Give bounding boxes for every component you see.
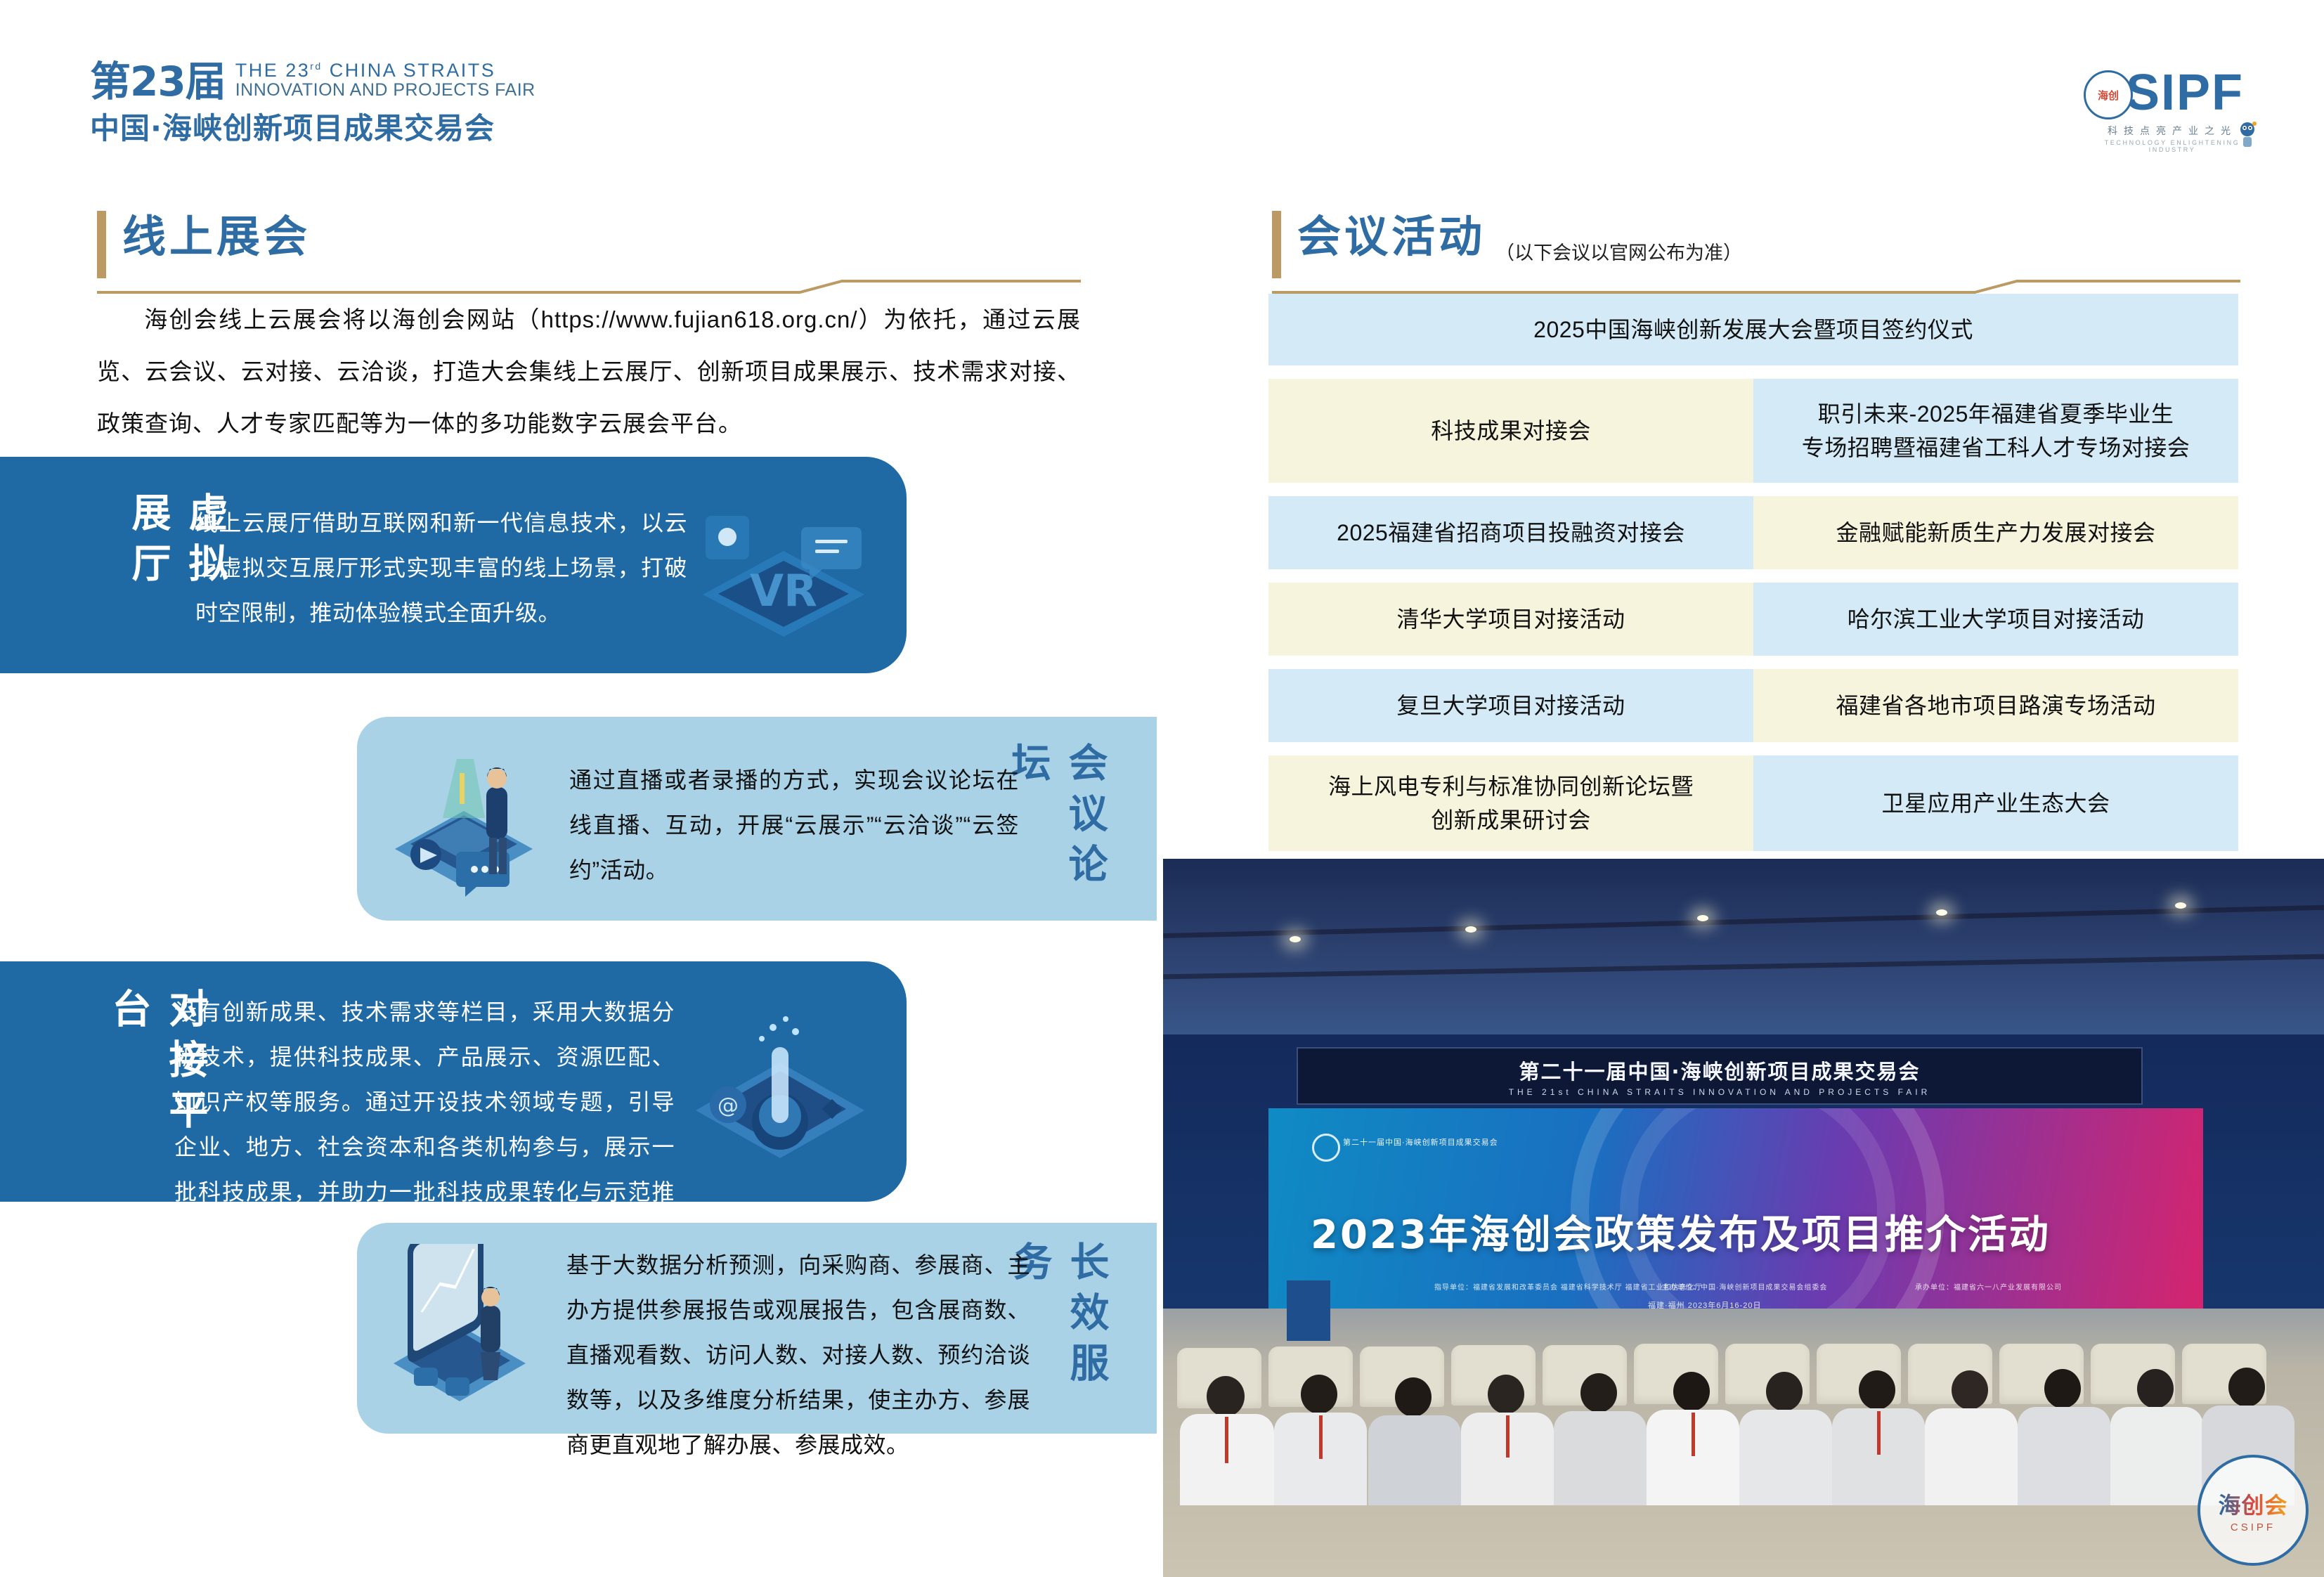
event-photo: 第二十一届中国·海峡创新项目成果交易会 THE 21st CHINA STRAI… (1163, 859, 2324, 1577)
attendee-head (1488, 1375, 1524, 1414)
attendee-head (1766, 1372, 1803, 1411)
attendee-head (1952, 1370, 1988, 1410)
led-screen: 第二十一届中国·海峡创新项目成果交易会 2023年海创会政策发布及项目推介活动 … (1268, 1108, 2203, 1340)
table-row: 清华大学项目对接活动 哈尔滨工业大学项目对接活动 (1268, 583, 2238, 656)
live-broadcast-icon (378, 742, 561, 900)
feature-panel-virtual-hall: 虚拟展厅 线上云展厅借助互联网和新一代信息技术，以云上虚拟交互展厅形式实现丰富的… (0, 457, 907, 673)
csipf-cn-tagline: 科技点亮产业之光 (2088, 124, 2257, 138)
data-report-icon (375, 1244, 565, 1417)
meeting-cell[interactable]: 2025福建省招商项目投融资对接会 (1268, 496, 1753, 569)
mascot-icon (2235, 121, 2259, 149)
fair-title-en-line2: INNOVATION AND PROJECTS FAIR (235, 81, 535, 100)
svg-text:VR: VR (750, 565, 817, 616)
feature-panel-longterm-service: 长效服务 基于大数据分析预测，向采购商、参展商、主办方提供参展报告或观展报告，包… (357, 1223, 1157, 1434)
stage-light-icon (1290, 936, 1301, 942)
feature-panel-conference-forum: 会议论坛 通过直播或者录播的方式，实现会议论坛在线直播、互动，开展“云展示”“云… (357, 717, 1157, 921)
table-row: 2025中国海峡创新发展大会暨项目签约仪式 (1268, 294, 2238, 365)
lanyard (1692, 1413, 1695, 1456)
meeting-cell[interactable]: 卫星应用产业生态大会 (1753, 755, 2238, 851)
screen-sub-mid: 主办单位：中国·海峡创新项目成果交易会组委会 (1662, 1281, 1827, 1292)
section-heading-meetings: 会议活动 （以下会议以官网公布为准） (1272, 211, 2240, 295)
lanyard (1319, 1415, 1323, 1459)
attendee-body (1925, 1408, 2018, 1505)
heading-rule (1272, 278, 2240, 295)
fair-brand-lockup: 第23届 THE 23rd CHINA STRAITS INNOVATION A… (90, 60, 535, 148)
meeting-cell[interactable]: 复旦大学项目对接活动 (1268, 669, 1753, 742)
attendee-head (1859, 1370, 1895, 1410)
section-title-text: 会议活动 (1297, 214, 1486, 259)
meeting-cell[interactable]: 金融赋能新质生产力发展对接会 (1753, 496, 2238, 569)
lanyard (1225, 1417, 1228, 1463)
meeting-cell[interactable]: 福建省各地市项目路演专场活动 (1753, 669, 2238, 742)
meeting-activities-table: 2025中国海峡创新发展大会暨项目签约仪式 科技成果对接会 职引未来-2025年… (1268, 294, 2238, 864)
table-row: 2025福建省招商项目投融资对接会 金融赋能新质生产力发展对接会 (1268, 496, 2238, 569)
stage-banner-cn: 第二十一届中国·海峡创新项目成果交易会 (1519, 1056, 1920, 1085)
table-row: 科技成果对接会 职引未来-2025年福建省夏季毕业生 专场招聘暨福建省工科人才专… (1268, 379, 2238, 483)
meeting-cell[interactable]: 科技成果对接会 (1268, 379, 1753, 483)
section-title-note: （以下会议以官网公布为准） (1495, 238, 1742, 265)
attendee-head (1673, 1372, 1710, 1411)
attendee-body (1368, 1415, 1461, 1505)
table-row: 海上风电专利与标准协同创新论坛暨 创新成果研讨会 卫星应用产业生态大会 (1268, 755, 2238, 851)
stage-light-icon (1465, 926, 1476, 933)
fair-edition-cn: 第23届 (90, 61, 226, 102)
feature-panel-text: 通过直播或者录播的方式，实现会议论坛在线直播、互动，开展“云展示”“云洽谈”“云… (569, 758, 1019, 893)
stage-banner: 第二十一届中国·海峡创新项目成果交易会 THE 21st CHINA STRAI… (1297, 1047, 2143, 1105)
vr-headset-icon: VR (682, 496, 885, 651)
screen-seal-icon (1312, 1134, 1340, 1162)
fair-title-en-line1: THE 23rd CHINA STRAITS (235, 60, 535, 81)
feature-panel-text: 设有创新成果、技术需求等栏目，采用大数据分析技术，提供科技成果、产品展示、资源匹… (174, 989, 675, 1259)
feature-panel-text: 线上云展厅借助互联网和新一代信息技术，以云上虚拟交互展厅形式实现丰富的线上场景，… (195, 500, 687, 635)
attendee-head (1207, 1376, 1245, 1417)
stage-light-icon (1936, 909, 1947, 916)
attendee-body (2018, 1407, 2110, 1505)
heading-accent-bar (97, 211, 106, 278)
network-hub-icon: @ (675, 998, 885, 1171)
attendee-head (2137, 1369, 2174, 1408)
seal-cn-text: 海创会 (2218, 1488, 2287, 1520)
section-heading-online-expo: 线上展会 (97, 211, 1081, 295)
attendee-head (1580, 1373, 1617, 1413)
heading-rule (97, 278, 1081, 295)
svg-text:@: @ (718, 1093, 739, 1118)
csipf-watermark-seal: 海创会 CSIPF (2198, 1455, 2309, 1566)
stage-light-icon (1697, 915, 1708, 921)
feature-panel-text: 基于大数据分析预测，向采购商、参展商、主办方提供参展报告或观展报告，包含展商数、… (566, 1242, 1030, 1467)
csipf-en-tagline: TECHNOLOGY ENLIGHTENING INDUSTRY (2088, 139, 2257, 153)
attendee-head (2228, 1368, 2265, 1407)
meeting-cell[interactable]: 清华大学项目对接活动 (1268, 583, 1753, 656)
stage-banner-en: THE 21st CHINA STRAITS INNOVATION AND PR… (1509, 1087, 1931, 1097)
section-title-text: 线上展会 (122, 214, 311, 259)
attendee-body (1554, 1411, 1647, 1505)
attendee-head (1301, 1375, 1337, 1414)
stage-light-icon (2175, 902, 2186, 909)
meeting-cell[interactable]: 海上风电专利与标准协同创新论坛暨 创新成果研讨会 (1268, 755, 1753, 851)
table-row: 复旦大学项目对接活动 福建省各地市项目路演专场活动 (1268, 669, 2238, 742)
lanyard (1877, 1411, 1881, 1455)
page-header: 第23届 THE 23rd CHINA STRAITS INNOVATION A… (0, 0, 2324, 148)
attendee-body (2110, 1407, 2203, 1505)
audience-seating (1163, 1344, 2324, 1577)
online-expo-intro-paragraph: 海创会线上云展会将以海创会网站（https://www.fujian618.or… (97, 294, 1081, 450)
meeting-cell[interactable]: 哈尔滨工业大学项目对接活动 (1753, 583, 2238, 656)
csipf-seal-icon: 海创 (2084, 70, 2133, 119)
seal-en-text: CSIPF (2231, 1521, 2276, 1533)
screen-title: 2023年海创会政策发布及项目推介活动 (1311, 1203, 2051, 1260)
screen-sub-right: 承办单位：福建省六一八产业发展有限公司 (1915, 1281, 2062, 1292)
attendee-head (2044, 1369, 2081, 1408)
heading-accent-bar (1272, 211, 1281, 278)
screen-logo-text: 第二十一届中国·海峡创新项目成果交易会 (1343, 1136, 1498, 1148)
feature-panel-matching-platform: 对接平台 设有创新成果、技术需求等栏目，采用大数据分析技术，提供科技成果、产品展… (0, 961, 907, 1202)
lanyard (1506, 1415, 1510, 1458)
attendee-head (1395, 1377, 1432, 1417)
meeting-cell[interactable]: 2025中国海峡创新发展大会暨项目签约仪式 (1268, 294, 2238, 365)
attendee-body (1739, 1410, 1832, 1505)
fair-title-cn: 中国·海峡创新项目成果交易会 (90, 105, 535, 148)
csipf-logo: CSIPF 海创 科技点亮产业之光 TECHNOLOGY ENLIGHTENIN… (2088, 67, 2257, 145)
podium (1287, 1280, 1330, 1341)
meeting-cell[interactable]: 职引未来-2025年福建省夏季毕业生 专场招聘暨福建省工科人才专场对接会 (1753, 379, 2238, 483)
